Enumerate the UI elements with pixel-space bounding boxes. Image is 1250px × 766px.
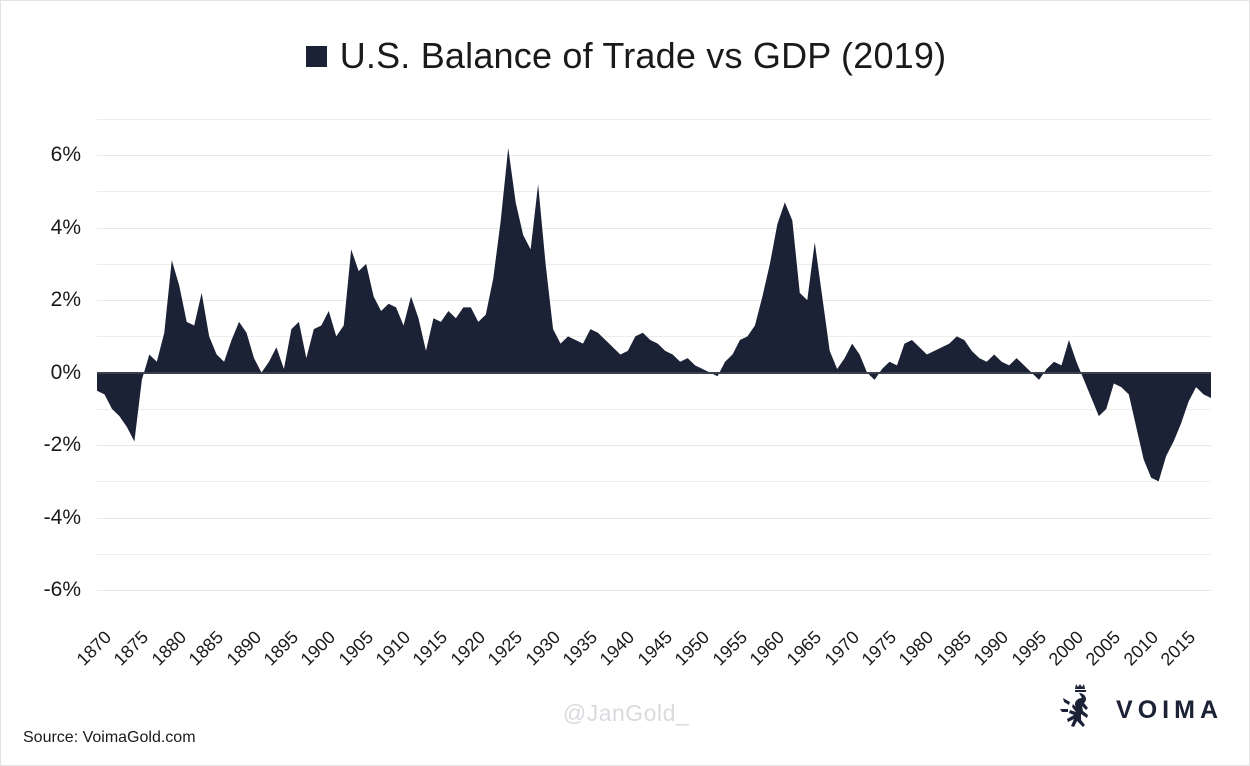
zero-axis-line [97, 372, 1211, 374]
y-axis-tick-label: 0% [1, 361, 81, 385]
y-axis-tick-label: -4% [1, 506, 81, 530]
y-axis-tick-label: 2% [1, 288, 81, 312]
brand-wordmark: VOIMA [1116, 696, 1223, 725]
y-axis-tick-label: 6% [1, 143, 81, 167]
chart-title: U.S. Balance of Trade vs GDP (2019) [1, 35, 1250, 77]
brand-logo: VOIMA [1058, 682, 1223, 739]
chart-title-text: U.S. Balance of Trade vs GDP (2019) [340, 35, 947, 76]
area-fill [97, 148, 1211, 481]
area-series-svg [97, 119, 1211, 619]
series-area-balance-of-trade [97, 119, 1211, 619]
lion-crest-icon [1058, 682, 1102, 739]
plot-area [97, 119, 1211, 619]
y-axis-tick-label: 4% [1, 216, 81, 240]
source-note: Source: VoimaGold.com [23, 729, 196, 747]
y-axis-tick-label: -2% [1, 433, 81, 457]
chart-page: U.S. Balance of Trade vs GDP (2019) 6%4%… [0, 0, 1250, 766]
y-axis-tick-label: -6% [1, 578, 81, 602]
legend-swatch-icon [306, 46, 327, 67]
